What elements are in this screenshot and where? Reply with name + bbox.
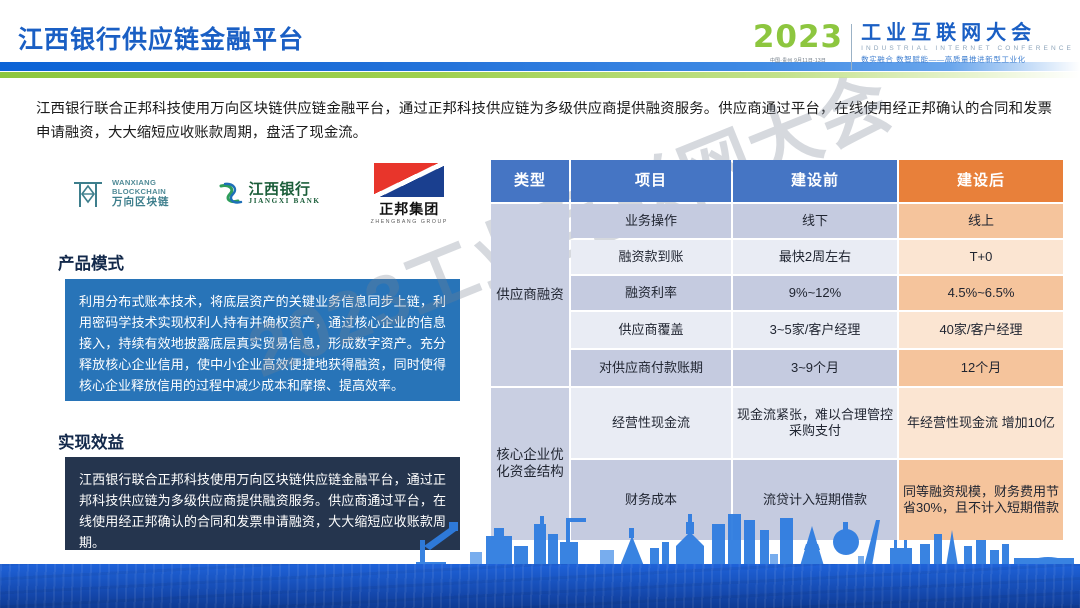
intro-paragraph: 江西银行联合正邦科技使用万向区块链供应链金融平台，通过正邦科技供应链为多级供应商… xyxy=(36,98,1052,146)
table-cell-after: 40家/客户经理 xyxy=(899,312,1063,348)
logo-wanxiang-blockchain: WANXIANG BLOCKCHAIN 万向区块链 xyxy=(70,176,170,212)
table-row: 财务成本 流贷计入短期借款 同等融资规模，财务费用节省30%，且不计入短期借款 xyxy=(491,460,1063,540)
conference-logo: 2023 中国·贵州 9月11日-13日 工业互联网大会 INDUSTRIAL … xyxy=(753,22,1074,80)
conference-year: 2023 xyxy=(753,22,843,53)
jiangxi-bank-en: JIANGXI BANK xyxy=(249,198,321,206)
conference-date-location: 中国·贵州 9月11日-13日 xyxy=(753,57,843,64)
table-row: 融资利率 9%~12% 4.5%~6.5% xyxy=(491,276,1063,310)
table-cell-before: 3~9个月 xyxy=(733,350,897,386)
table-row: 供应商覆盖 3~5家/客户经理 40家/客户经理 xyxy=(491,312,1063,348)
panel-benefits: 江西银行联合正邦科技使用万向区块链供应链金融平台，通过正邦科技供应链为多级供应商… xyxy=(65,457,460,550)
zhengbang-en: ZHENGBANG GROUP xyxy=(371,219,448,225)
table-cell-before: 9%~12% xyxy=(733,276,897,310)
table-cell-before: 流贷计入短期借款 xyxy=(733,460,897,540)
conference-name-block: 工业互联网大会 INDUSTRIAL INTERNET CONFERENCE 数… xyxy=(861,22,1074,65)
conference-name-cn: 工业互联网大会 xyxy=(861,23,1074,44)
section-heading-benefits: 实现效益 xyxy=(58,429,124,453)
slide-root: 江西银行供应链金融平台 2023 中国·贵州 9月11日-13日 工业互联网大会… xyxy=(0,0,1080,608)
conference-name-en: INDUSTRIAL INTERNET CONFERENCE xyxy=(861,45,1074,52)
table-cell-after: 年经营性现金流 增加10亿 xyxy=(899,388,1063,458)
table-header-item: 项目 xyxy=(571,160,731,202)
table-cell-before: 线下 xyxy=(733,204,897,238)
jiangxi-bank-logo-text: 江西银行 JIANGXI BANK xyxy=(249,182,321,206)
table-cell-before: 现金流紧张，难以合理管控采购支付 xyxy=(733,388,897,458)
table-header-before: 建设前 xyxy=(733,160,897,202)
logo-jiangxi-bank: 江西银行 JIANGXI BANK xyxy=(216,181,321,207)
table-header-after: 建设后 xyxy=(899,160,1063,202)
table-cell-item: 业务操作 xyxy=(571,204,731,238)
table-cell-item: 融资款到账 xyxy=(571,240,731,274)
table-cell-before: 最快2周左右 xyxy=(733,240,897,274)
conference-slogan: 数实融合 数智赋能——高质量推进新型工业化 xyxy=(861,54,1074,65)
comparison-table: 类型 项目 建设前 建设后 供应商融资 业务操作 线下 线上 融资款到账 最快2… xyxy=(489,158,1065,542)
table-cell-item: 融资利率 xyxy=(571,276,731,310)
jiangxi-bank-cn: 江西银行 xyxy=(249,182,321,199)
table-cell-after: 同等融资规模，财务费用节省30%，且不计入短期借款 xyxy=(899,460,1063,540)
table-header-row: 类型 项目 建设前 建设后 xyxy=(491,160,1063,202)
wanxiang-mark-icon xyxy=(70,176,106,212)
section-heading-product-mode: 产品模式 xyxy=(58,250,124,274)
table-cell-item: 对供应商付款账期 xyxy=(571,350,731,386)
table-cell-item: 经营性现金流 xyxy=(571,388,731,458)
table-cell-after: 12个月 xyxy=(899,350,1063,386)
table-row: 对供应商付款账期 3~9个月 12个月 xyxy=(491,350,1063,386)
wanxiang-en-line2: BLOCKCHAIN xyxy=(112,188,170,197)
wanxiang-logo-text: WANXIANG BLOCKCHAIN 万向区块链 xyxy=(112,179,170,209)
table-cell-before: 3~5家/客户经理 xyxy=(733,312,897,348)
table-cell-after: T+0 xyxy=(899,240,1063,274)
wave-decoration xyxy=(0,564,1080,608)
panel-product-mode: 利用分布式账本技术，将底层资产的关键业务信息同步上链，利用密码学技术实现权利人持… xyxy=(65,279,460,401)
table-cell-item: 财务成本 xyxy=(571,460,731,540)
table-cell-after: 4.5%~6.5% xyxy=(899,276,1063,310)
table-cell-item: 供应商覆盖 xyxy=(571,312,731,348)
wanxiang-cn: 万向区块链 xyxy=(112,197,170,209)
zhengbang-mark-icon xyxy=(374,163,444,197)
table-cell-after: 线上 xyxy=(899,204,1063,238)
table-row: 融资款到账 最快2周左右 T+0 xyxy=(491,240,1063,274)
conference-year-block: 2023 中国·贵州 9月11日-13日 xyxy=(753,22,851,64)
table-header-type: 类型 xyxy=(491,160,569,202)
partner-logos: WANXIANG BLOCKCHAIN 万向区块链 江西银行 JIANGXI B… xyxy=(70,163,470,225)
table-cell-type: 核心企业优化资金结构 xyxy=(491,388,569,540)
table-row: 核心企业优化资金结构 经营性现金流 现金流紧张，难以合理管控采购支付 年经营性现… xyxy=(491,388,1063,458)
jiangxi-bank-mark-icon xyxy=(216,181,244,207)
logo-zhengbang-group: 正邦集团 ZHENGBANG GROUP xyxy=(371,163,448,225)
page-title: 江西银行供应链金融平台 xyxy=(18,20,304,56)
table-row: 供应商融资 业务操作 线下 线上 xyxy=(491,204,1063,238)
conference-logo-divider xyxy=(851,24,852,70)
table-cell-type: 供应商融资 xyxy=(491,204,569,386)
zhengbang-cn: 正邦集团 xyxy=(371,199,448,219)
